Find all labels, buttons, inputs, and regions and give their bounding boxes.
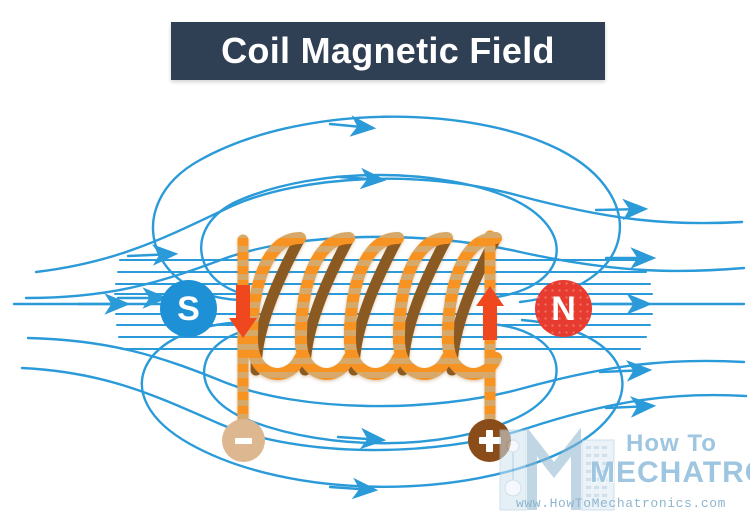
minus-icon	[235, 438, 252, 444]
negative-terminal	[222, 419, 265, 462]
south-pole-label: S	[177, 292, 200, 326]
field-arrow-top-outer	[330, 124, 372, 128]
magnetic-field-lines	[14, 117, 746, 490]
field-arrow-left-up-1	[128, 254, 174, 256]
page-title: Coil Magnetic Field	[221, 30, 555, 72]
plus-icon-vertical	[486, 430, 493, 452]
field-loop-outer-bottom	[142, 320, 622, 487]
south-pole-badge: S	[160, 280, 217, 337]
north-pole-badge: N	[535, 280, 592, 337]
positive-terminal	[468, 419, 511, 462]
field-line-lower-left-2	[22, 368, 746, 450]
north-pole-label: N	[551, 292, 576, 326]
title-banner: Coil Magnetic Field	[171, 22, 605, 80]
diagram-canvas: Coil Magnetic Field S N	[0, 0, 750, 528]
field-arrow-right-up-1	[596, 209, 644, 210]
solenoid-coil	[243, 236, 496, 424]
field-arrow-bottom-inner	[338, 437, 382, 440]
